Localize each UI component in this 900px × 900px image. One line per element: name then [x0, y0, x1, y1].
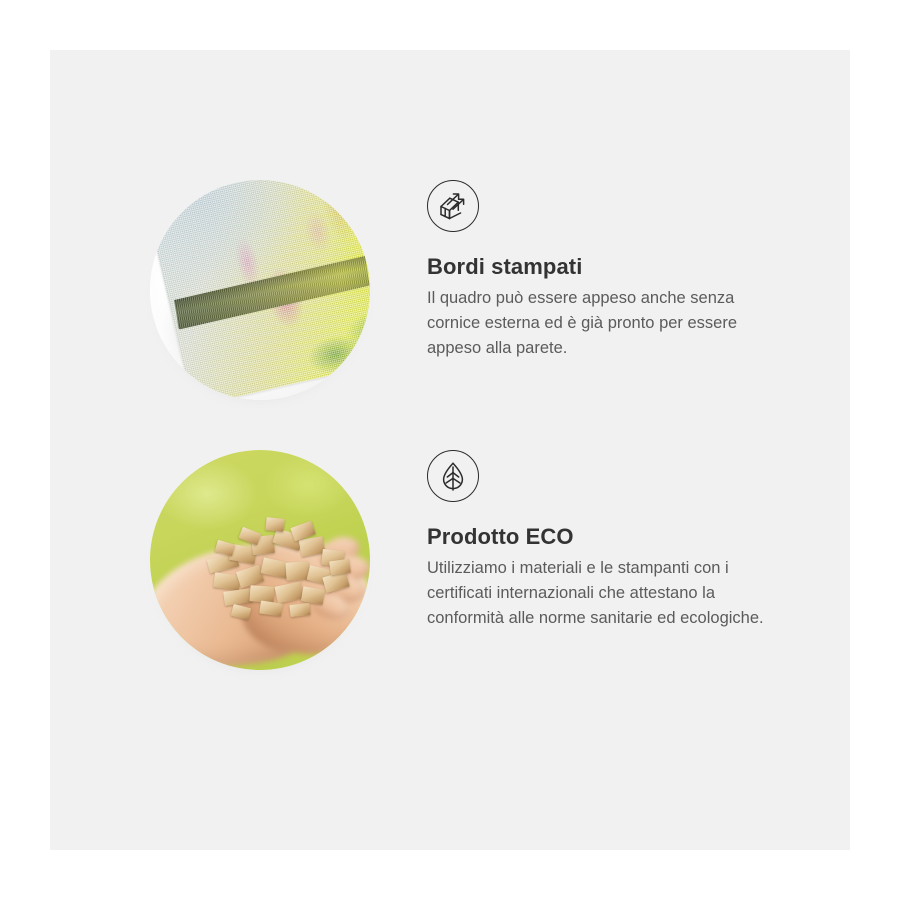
leaf-glyph — [437, 460, 469, 492]
feature-description: Utilizziamo i materiali e le stampanti c… — [427, 556, 789, 631]
feature-prodotto-eco: Prodotto ECO Utilizziamo i materiali e l… — [50, 450, 850, 750]
wood-chip — [265, 517, 284, 532]
photo-circle-mask — [150, 180, 370, 400]
wood-chip — [301, 586, 325, 605]
leaf-icon — [427, 450, 479, 502]
wood-chip — [275, 581, 304, 603]
product-feature-page: Bordi stampati Il quadro può essere appe… — [0, 0, 900, 900]
photo-circle-mask — [150, 450, 370, 670]
wood-chip — [289, 603, 310, 617]
printed-edges-icon — [427, 180, 479, 232]
feature-description: Il quadro può essere appeso anche senza … — [427, 286, 789, 361]
wood-chip — [223, 588, 253, 606]
wood-chip — [329, 559, 351, 576]
canvas-scene — [150, 180, 370, 400]
wood-chips-pile — [204, 516, 354, 612]
canvas-corner-photo — [150, 180, 370, 400]
feature-bordi-stampati: Bordi stampati Il quadro può essere appe… — [50, 180, 850, 480]
feature-title: Bordi stampati — [427, 254, 807, 280]
feature-panel: Bordi stampati Il quadro può essere appe… — [50, 50, 850, 850]
grass-background — [150, 450, 370, 670]
feature-2-content: Prodotto ECO Utilizziamo i materiali e l… — [427, 450, 807, 631]
wood-chip — [215, 540, 236, 556]
printed-edges-glyph — [436, 189, 470, 223]
feature-1-content: Bordi stampati Il quadro può essere appe… — [427, 180, 807, 361]
feature-title: Prodotto ECO — [427, 524, 807, 550]
eco-wood-chips-photo — [150, 450, 370, 670]
wood-chip — [238, 527, 261, 546]
